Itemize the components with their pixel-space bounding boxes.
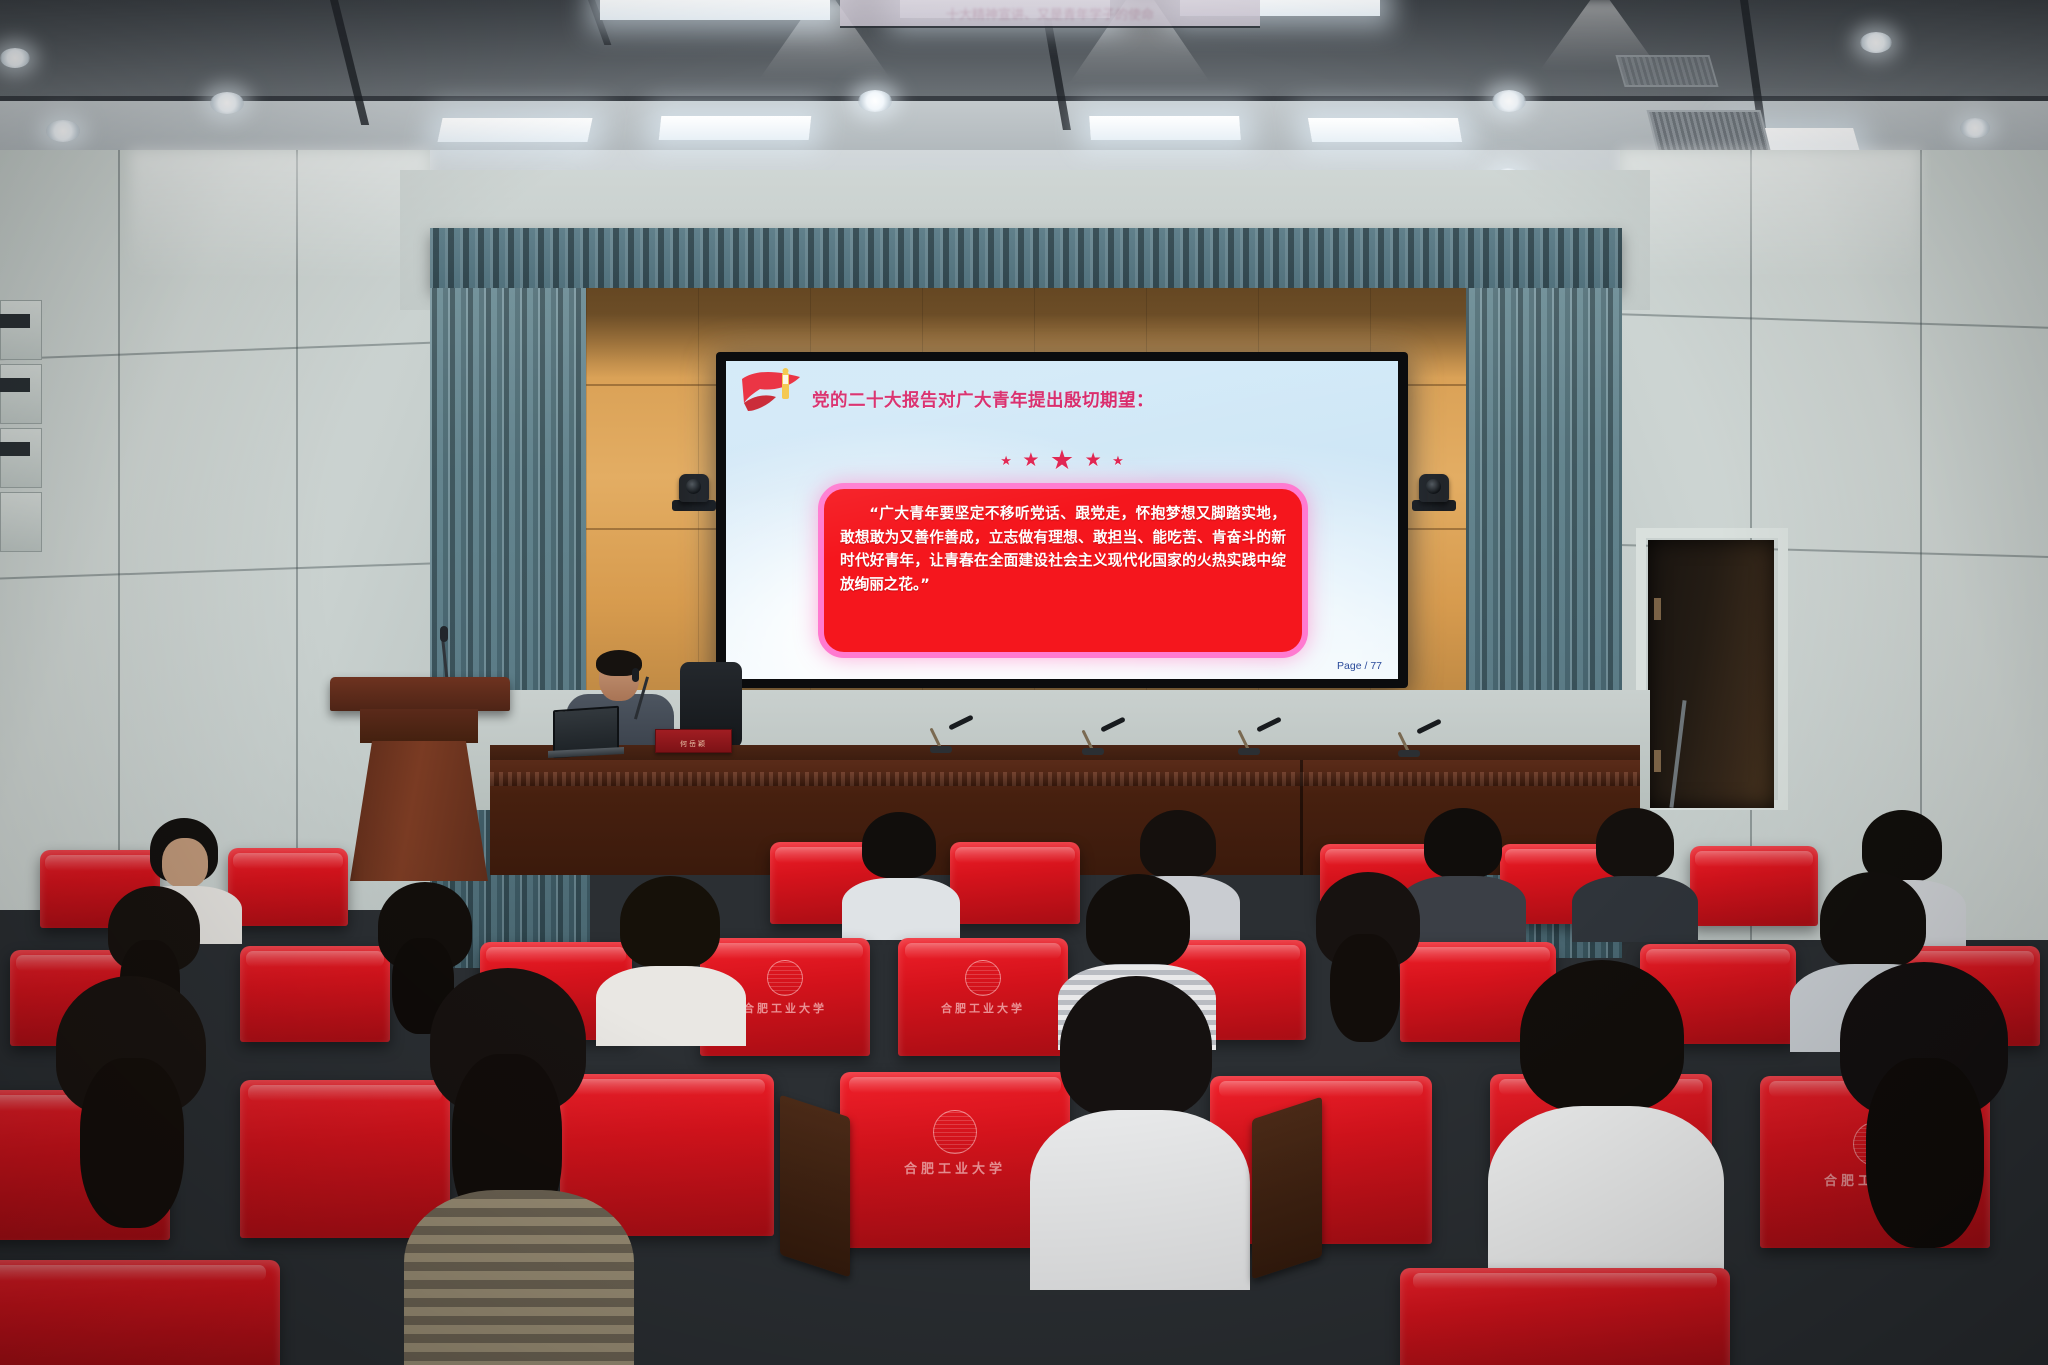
hair (1086, 874, 1190, 968)
downlight-1 (210, 92, 244, 114)
presentation-screen[interactable]: 党的二十大报告对广大青年提出殷切期望： ★ ★ ★ ★ ★ “广大青年要坚定不移… (726, 361, 1398, 679)
downlight-17 (1960, 118, 1990, 138)
seat-emblem-group: 合肥工业大学 (941, 960, 1025, 1016)
door-hinge-lower (1654, 750, 1661, 772)
hair (862, 812, 936, 878)
wall-seam-l3 (0, 342, 430, 361)
seat-logo-text: 合肥工业大学 (743, 1000, 827, 1016)
wall-sheen-right (1620, 150, 1920, 280)
presenter-microphone-head (632, 668, 639, 682)
ceiling-panel-light-6 (1089, 116, 1241, 140)
hair (1820, 872, 1926, 968)
hvac-vent-right (1647, 110, 1772, 154)
shoulders (842, 878, 960, 940)
university-emblem-icon (933, 1110, 977, 1154)
overhead-banner: 十大精神宣讲、又是青年学子的使命 (840, 0, 1260, 28)
party-flag-icon (738, 367, 810, 423)
audience-area: 合肥工业大学 合肥工业大学 (0, 790, 2048, 1365)
slide-quote-box: “广大青年要坚定不移听党话、跟党走，怀抱梦想又脚踏实地，敢想敢为又善作善成，立志… (818, 483, 1308, 658)
head (162, 838, 208, 888)
ptz-camera-left (679, 474, 709, 502)
aisle-rail-right (1252, 1097, 1322, 1280)
ponytail (1866, 1058, 1984, 1248)
presenter-nameplate: 何岳颖 (655, 729, 732, 753)
wall-equipment-panels (0, 300, 46, 640)
wall-seam-l4 (0, 562, 430, 579)
shoulders (1030, 1110, 1250, 1290)
downlight-4 (858, 90, 892, 112)
doorway-right[interactable] (1648, 540, 1774, 808)
auditorium-photo: 十大精神宣讲、又是青年学子的使命 (0, 0, 2048, 1365)
downlight-8 (1860, 32, 1892, 53)
podium-neck (360, 709, 478, 743)
seat-logo-text: 合肥工业大学 (904, 1158, 1006, 1177)
hvac-vent-upper (1615, 55, 1718, 87)
aisle-rail-left (780, 1095, 850, 1278)
podium-top (330, 677, 510, 711)
downlight-2 (46, 120, 80, 142)
ptz-camera-right (1419, 474, 1449, 502)
hair (1060, 976, 1212, 1118)
ceiling-panel-light-4 (437, 118, 592, 142)
hair (620, 876, 720, 968)
ponytail (1330, 934, 1400, 1042)
hair (1140, 810, 1216, 878)
seat-row4-1[interactable] (0, 1260, 280, 1365)
star-row: ★ ★ ★ ★ ★ (726, 447, 1398, 474)
hair (1520, 960, 1684, 1112)
seat-row2-5[interactable]: 合肥工业大学 (898, 938, 1068, 1056)
wall-seam-r3 (1620, 313, 2048, 328)
downlight-5 (1492, 90, 1526, 112)
ponytail (80, 1058, 184, 1228)
shoulders (1572, 876, 1698, 942)
ceiling-seam-strip (0, 96, 2048, 101)
star-icon-4: ★ (1085, 451, 1102, 470)
seat-emblem-group: 合肥工业大学 (904, 1110, 1006, 1177)
hair (1596, 808, 1674, 878)
star-icon-1: ★ (1000, 454, 1012, 467)
slide-quote-text: “广大青年要坚定不移听党话、跟党走，怀抱梦想又脚踏实地，敢想敢为又善作善成，立志… (824, 489, 1302, 597)
curtain-valance (430, 228, 1622, 290)
shoulders (596, 966, 746, 1046)
star-icon-2: ★ (1022, 451, 1039, 470)
hair (1424, 808, 1502, 878)
seat-emblem-group: 合肥工业大学 (743, 960, 827, 1016)
slide-title: 党的二十大报告对广大青年提出殷切期望： (812, 387, 1154, 412)
ceiling-panel-light-1 (600, 0, 830, 20)
seat-row3-2[interactable] (240, 1080, 450, 1238)
seat-row1-4[interactable] (950, 842, 1080, 924)
seat-row2-2[interactable] (240, 946, 390, 1042)
downlight-3 (0, 48, 30, 68)
university-emblem-icon (767, 960, 803, 996)
panel-slot-1 (0, 314, 30, 328)
ceiling-panel-light-7 (1308, 118, 1462, 142)
seat-row4-2[interactable] (1400, 1268, 1730, 1365)
seat-row1-2[interactable] (228, 848, 348, 926)
panel-slot-3 (0, 442, 30, 456)
podium-microphone-head (440, 626, 448, 642)
head-table-molding (490, 772, 1640, 786)
overhead-banner-text: 十大精神宣讲、又是青年学子的使命 (840, 0, 1260, 23)
slide-page-number: Page / 77 (1337, 660, 1382, 672)
seat-row1-7[interactable] (1690, 846, 1818, 926)
shoulders (404, 1190, 634, 1365)
panel-slot-2 (0, 378, 30, 392)
door-hinge-upper (1654, 598, 1661, 620)
wall-sheen-left (130, 150, 430, 280)
star-icon-5: ★ (1112, 454, 1124, 467)
seat-logo-text: 合肥工业大学 (941, 1000, 1025, 1016)
star-icon-3: ★ (1050, 447, 1074, 474)
ceiling-panel-light-5 (659, 116, 812, 140)
university-emblem-icon (965, 960, 1001, 996)
presenter-nameplate-text: 何岳颖 (656, 730, 731, 749)
